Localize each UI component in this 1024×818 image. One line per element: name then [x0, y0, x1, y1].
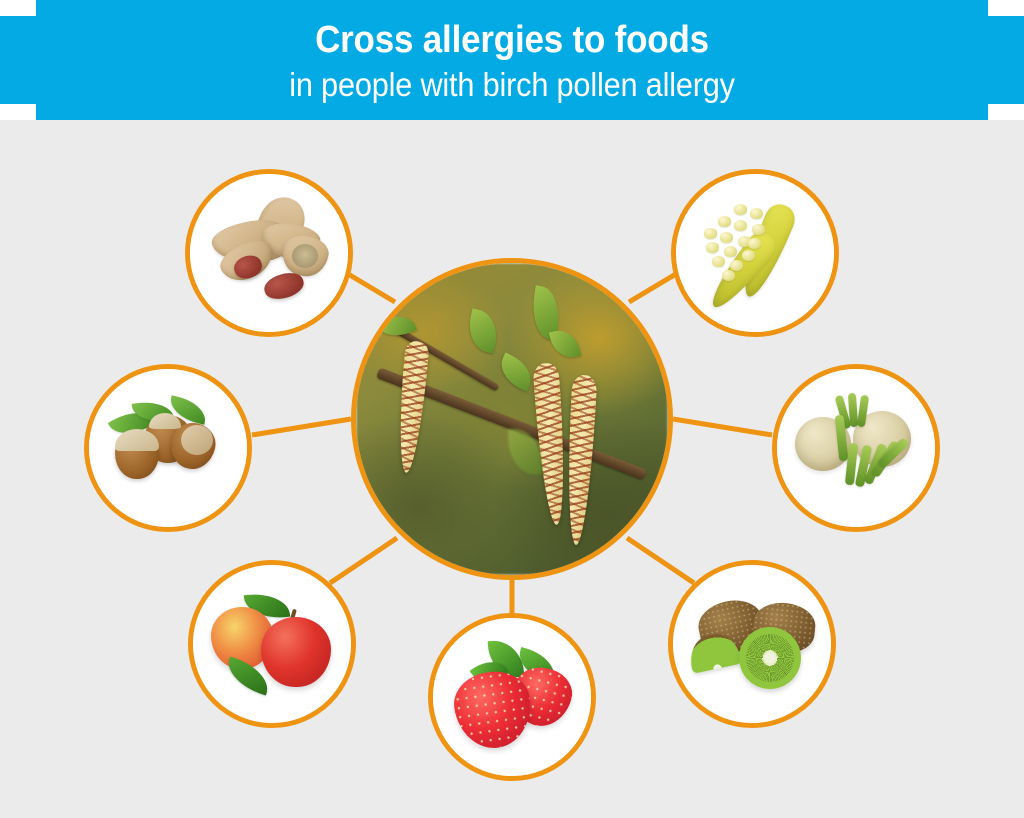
birch-catkin-icon — [356, 263, 668, 575]
kiwi-icon — [673, 565, 831, 723]
page-subtitle: in people with birch pollen allergy — [36, 66, 988, 104]
connector-celery — [673, 419, 772, 435]
node-hazelnut[interactable] — [84, 364, 252, 532]
page-title: Cross allergies to foods — [41, 19, 983, 61]
infographic-page: Cross allergies to foods in people with … — [0, 0, 1024, 818]
soybean-icon — [676, 174, 834, 332]
node-soy[interactable] — [671, 169, 839, 337]
node-strawberry[interactable] — [428, 613, 596, 781]
diagram-canvas — [0, 120, 1024, 818]
connector-hazelnut — [252, 419, 351, 435]
apple-icon — [193, 565, 351, 723]
node-apple[interactable] — [188, 560, 356, 728]
strawberry-icon — [433, 618, 591, 776]
hazelnut-icon — [89, 369, 247, 527]
node-celery[interactable] — [772, 364, 940, 532]
celeriac-icon — [777, 369, 935, 527]
center-node-birch-pollen[interactable] — [351, 258, 673, 580]
node-kiwi[interactable] — [668, 560, 836, 728]
peanut-icon — [190, 174, 348, 332]
node-peanut[interactable] — [185, 169, 353, 337]
